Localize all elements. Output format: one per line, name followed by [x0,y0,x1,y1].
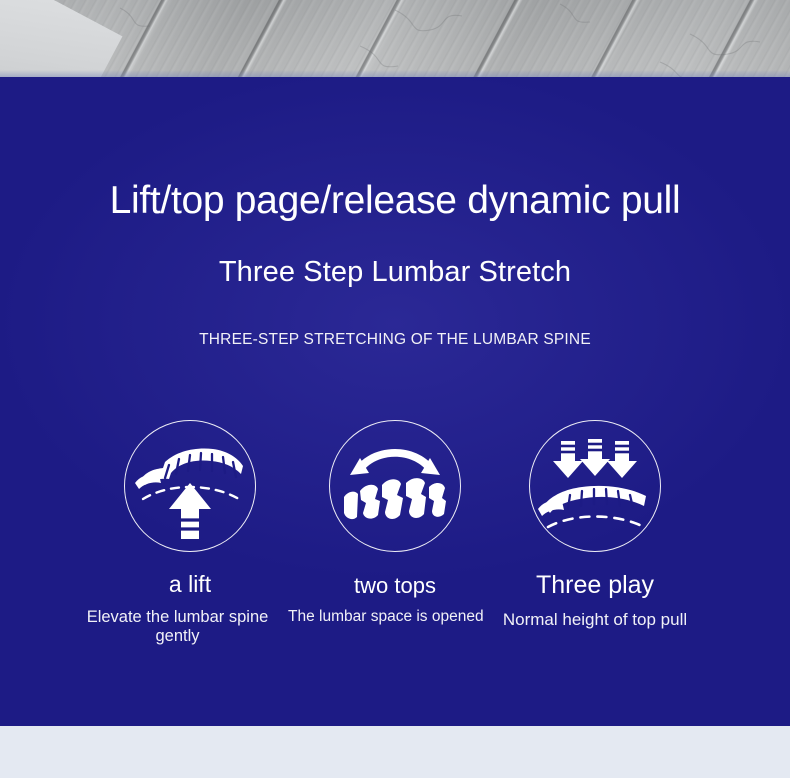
step-2-circle [329,420,461,552]
step-1-circle [124,420,256,552]
steps-row: a lift Elevate the lumbar spine gently [0,420,790,660]
wooden-floor-photo [0,0,790,78]
step-2-description: The lumbar space is opened [288,608,488,626]
spine-three-down-arrows-icon [530,421,660,551]
spine-double-arrow-spread-icon [330,421,460,551]
bottom-strip [0,726,790,778]
step-item-play: Three play Normal height of top pull [470,420,720,630]
page-subtitle: Three Step Lumbar Stretch [0,256,790,289]
step-1-description: Elevate the lumbar spine gently [70,608,285,647]
page-tagline: THREE-STEP STRETCHING OF THE LUMBAR SPIN… [0,331,790,349]
step-3-circle [529,420,661,552]
poster-page: Lift/top page/release dynamic pull Three… [0,0,790,778]
spine-arch-up-arrow-icon [125,421,255,551]
step-3-description: Normal height of top pull [470,610,720,630]
page-title: Lift/top page/release dynamic pull [0,179,790,223]
step-3-label: Three play [470,571,720,600]
